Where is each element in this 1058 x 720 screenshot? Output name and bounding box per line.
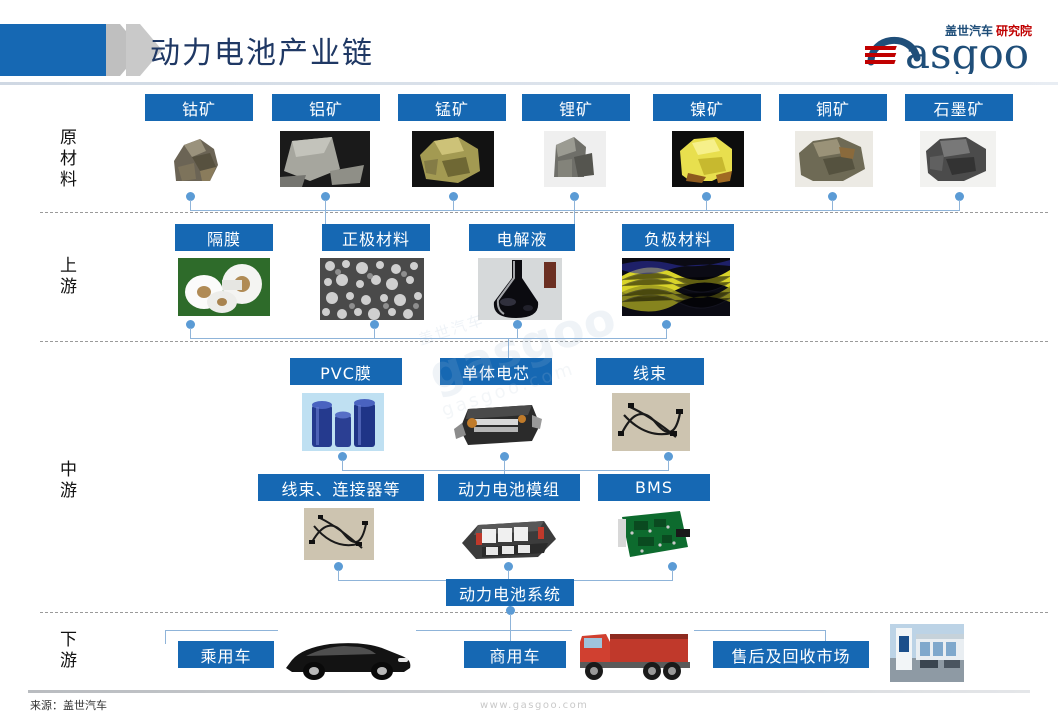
thumb-separator-roll [178, 258, 270, 316]
thumb-copper-ore [795, 131, 873, 187]
connector-bus-upstream [190, 338, 667, 339]
connector-v-harness [668, 460, 669, 470]
connector-v-pvc [342, 460, 343, 470]
node-down-passenger[interactable]: 乘用车 [178, 641, 274, 668]
thumb-passenger-car [278, 630, 416, 680]
thumb-lithium-ore [544, 131, 606, 187]
footer-source: 来源：盖世汽车 [30, 697, 107, 713]
node-label: 线束、连接器等 [281, 476, 400, 500]
node-raw-lithium[interactable]: 锂矿 [522, 94, 630, 121]
node-label: 动力电池系统 [459, 581, 561, 605]
stage-label-downstream-text: 下游 [60, 630, 78, 671]
thumb-manganese-ore [412, 131, 494, 187]
node-mid-module[interactable]: 动力电池模组 [438, 474, 580, 501]
node-label: 售后及回收市场 [731, 643, 850, 667]
connector-v-graphite [959, 200, 960, 210]
node-up-cathode[interactable]: 正极材料 [322, 224, 430, 251]
node-down-aftermarket[interactable]: 售后及回收市场 [713, 641, 869, 668]
node-label: 镍矿 [690, 96, 724, 120]
divider-raw-upstream [40, 212, 1048, 213]
thumb-anode-material [622, 258, 730, 316]
connector-v-separator [190, 328, 191, 338]
connector-v-harness-connector [338, 570, 339, 580]
page-title: 动力电池产业链 [150, 28, 374, 72]
node-label: 负极材料 [644, 226, 712, 250]
connector-v-system [510, 614, 511, 630]
thumb-graphite-ore [920, 131, 996, 187]
thumb-nickel-ore [672, 131, 744, 187]
connector-v-cathode [374, 328, 375, 338]
node-raw-graphite[interactable]: 石墨矿 [905, 94, 1013, 121]
node-raw-copper[interactable]: 铜矿 [779, 94, 887, 121]
slide-canvas: 动力电池产业链 asgoo 盖世汽车 研究院 原材料 上游 中游 下游 钴矿 铝… [0, 0, 1058, 720]
node-battery-system[interactable]: 动力电池系统 [446, 579, 574, 606]
connector-v-manganese [453, 200, 454, 210]
node-mid-cell[interactable]: 单体电芯 [440, 358, 552, 385]
node-raw-nickel[interactable]: 镍矿 [653, 94, 761, 121]
thumb-wiring-harness [612, 393, 690, 451]
thumb-commercial-truck [572, 622, 694, 684]
node-raw-manganese[interactable]: 锰矿 [398, 94, 506, 121]
connector-bus-raw [190, 210, 960, 211]
node-raw-cobalt[interactable]: 钴矿 [145, 94, 253, 121]
stage-label-midstream-text: 中游 [60, 460, 78, 501]
thumb-harness-connector [304, 508, 374, 560]
connector-v-aluminum [325, 200, 326, 210]
node-mid-bms[interactable]: BMS [598, 474, 710, 501]
node-label: 石墨矿 [933, 96, 984, 120]
thumb-cathode-powder [320, 258, 424, 320]
stage-label-upstream-text: 上游 [60, 256, 78, 297]
stage-label-raw: 原材料 [52, 128, 86, 191]
connector-v-anode [666, 328, 667, 338]
node-label: 线束 [633, 360, 667, 384]
node-up-anode[interactable]: 负极材料 [622, 224, 734, 251]
connector-v-electrolyte [517, 328, 518, 338]
svg-text:研究院: 研究院 [996, 23, 1032, 38]
node-mid-harness-connector[interactable]: 线束、连接器等 [258, 474, 424, 501]
connector-bus-downstream [165, 630, 825, 631]
node-down-commercial[interactable]: 商用车 [464, 641, 566, 668]
node-label: PVC膜 [320, 360, 372, 384]
footer-divider [28, 690, 1030, 693]
node-label: 锰矿 [435, 96, 469, 120]
thumb-battery-module [452, 505, 564, 565]
node-label: 铜矿 [816, 96, 850, 120]
gasgoo-logo[interactable]: asgoo 盖世汽车 研究院 [865, 18, 1040, 74]
connector-v-cell [504, 460, 505, 470]
thumb-pvc-film-cells [302, 393, 384, 451]
node-label: 乘用车 [200, 643, 251, 667]
thumb-cobalt-ore [166, 131, 230, 187]
header-divider [0, 82, 1058, 85]
node-mid-harness[interactable]: 线束 [596, 358, 704, 385]
node-label: 铝矿 [309, 96, 343, 120]
connector-bus-mid-upper [342, 470, 669, 471]
node-label: 钴矿 [182, 96, 216, 120]
thumb-battery-cell [448, 393, 548, 451]
thumb-dealership [890, 624, 964, 682]
node-label: 商用车 [489, 643, 540, 667]
thumb-bms-pcb [616, 507, 692, 561]
node-label: 正极材料 [342, 226, 410, 250]
stage-label-raw-text: 原材料 [60, 128, 78, 190]
connector-v-nickel [706, 200, 707, 210]
node-raw-aluminum[interactable]: 铝矿 [272, 94, 380, 121]
connector-v-bms [672, 570, 673, 580]
node-label: 动力电池模组 [458, 476, 560, 500]
node-label: 锂矿 [559, 96, 593, 120]
footer-url[interactable]: www.gasgoo.com [480, 700, 588, 711]
node-mid-pvc[interactable]: PVC膜 [290, 358, 402, 385]
divider-upstream-mid [40, 341, 1048, 342]
stage-label-midstream: 中游 [52, 460, 86, 502]
connector-v-lithium [574, 200, 575, 210]
node-up-separator[interactable]: 隔膜 [175, 224, 273, 251]
connector-v-cobalt [190, 200, 191, 210]
connector-v-copper [832, 200, 833, 210]
thumb-electrolyte-flask [478, 258, 562, 320]
node-up-electrolyte[interactable]: 电解液 [469, 224, 575, 251]
stage-label-upstream: 上游 [52, 256, 86, 298]
node-label: 隔膜 [207, 226, 241, 250]
svg-text:盖世汽车: 盖世汽车 [945, 23, 993, 38]
stage-label-downstream: 下游 [52, 630, 86, 672]
node-label: BMS [635, 478, 673, 497]
thumb-aluminum-ore [280, 131, 370, 187]
node-label: 电解液 [496, 226, 547, 250]
node-label: 单体电芯 [462, 360, 530, 384]
divider-mid-downstream [40, 612, 1048, 613]
connector-v-passenger [165, 630, 166, 644]
